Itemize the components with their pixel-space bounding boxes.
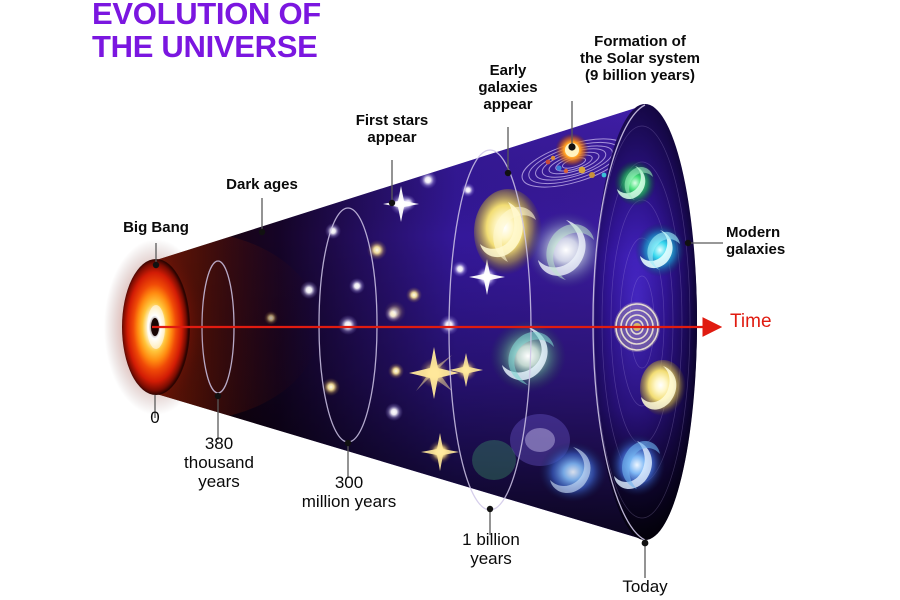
galaxy-teal-spiral: [490, 320, 566, 392]
today-dome: [593, 104, 697, 540]
label-first-stars: First stars appear: [336, 113, 448, 147]
tick-label-first-stars: 300 million years: [284, 473, 414, 511]
label-time-axis: Time: [730, 311, 810, 332]
tick-label-recombination: 380 thousand years: [170, 434, 268, 491]
label-solar-system: Formation of the Solar system (9 billion…: [556, 34, 724, 84]
galaxy-green-spiral: [614, 160, 656, 206]
galaxy-yellow-right: [640, 360, 686, 416]
galaxy-blue-spiral: [609, 434, 665, 496]
tick-label-one-billion: 1 billion years: [438, 530, 544, 568]
label-early-galaxies: Early galaxies appear: [458, 63, 558, 113]
label-dark-ages: Dark ages: [200, 177, 324, 194]
diagram-canvas: EVOLUTION OF THE UNIVERSE Big Bang Dark …: [0, 0, 900, 600]
label-modern-galaxies: Modern galaxies: [726, 225, 834, 259]
universe-cone-illustration: [0, 0, 900, 600]
galaxy-cyan-spiral: [635, 223, 685, 277]
label-big-bang: Big Bang: [98, 220, 214, 237]
page-title: EVOLUTION OF THE UNIVERSE: [92, 0, 321, 63]
tick-label-today: Today: [602, 577, 688, 596]
tick-label-zero: 0: [133, 408, 177, 427]
galaxy-green-small: [472, 440, 516, 480]
galaxy-blue-bottom: [539, 442, 607, 502]
